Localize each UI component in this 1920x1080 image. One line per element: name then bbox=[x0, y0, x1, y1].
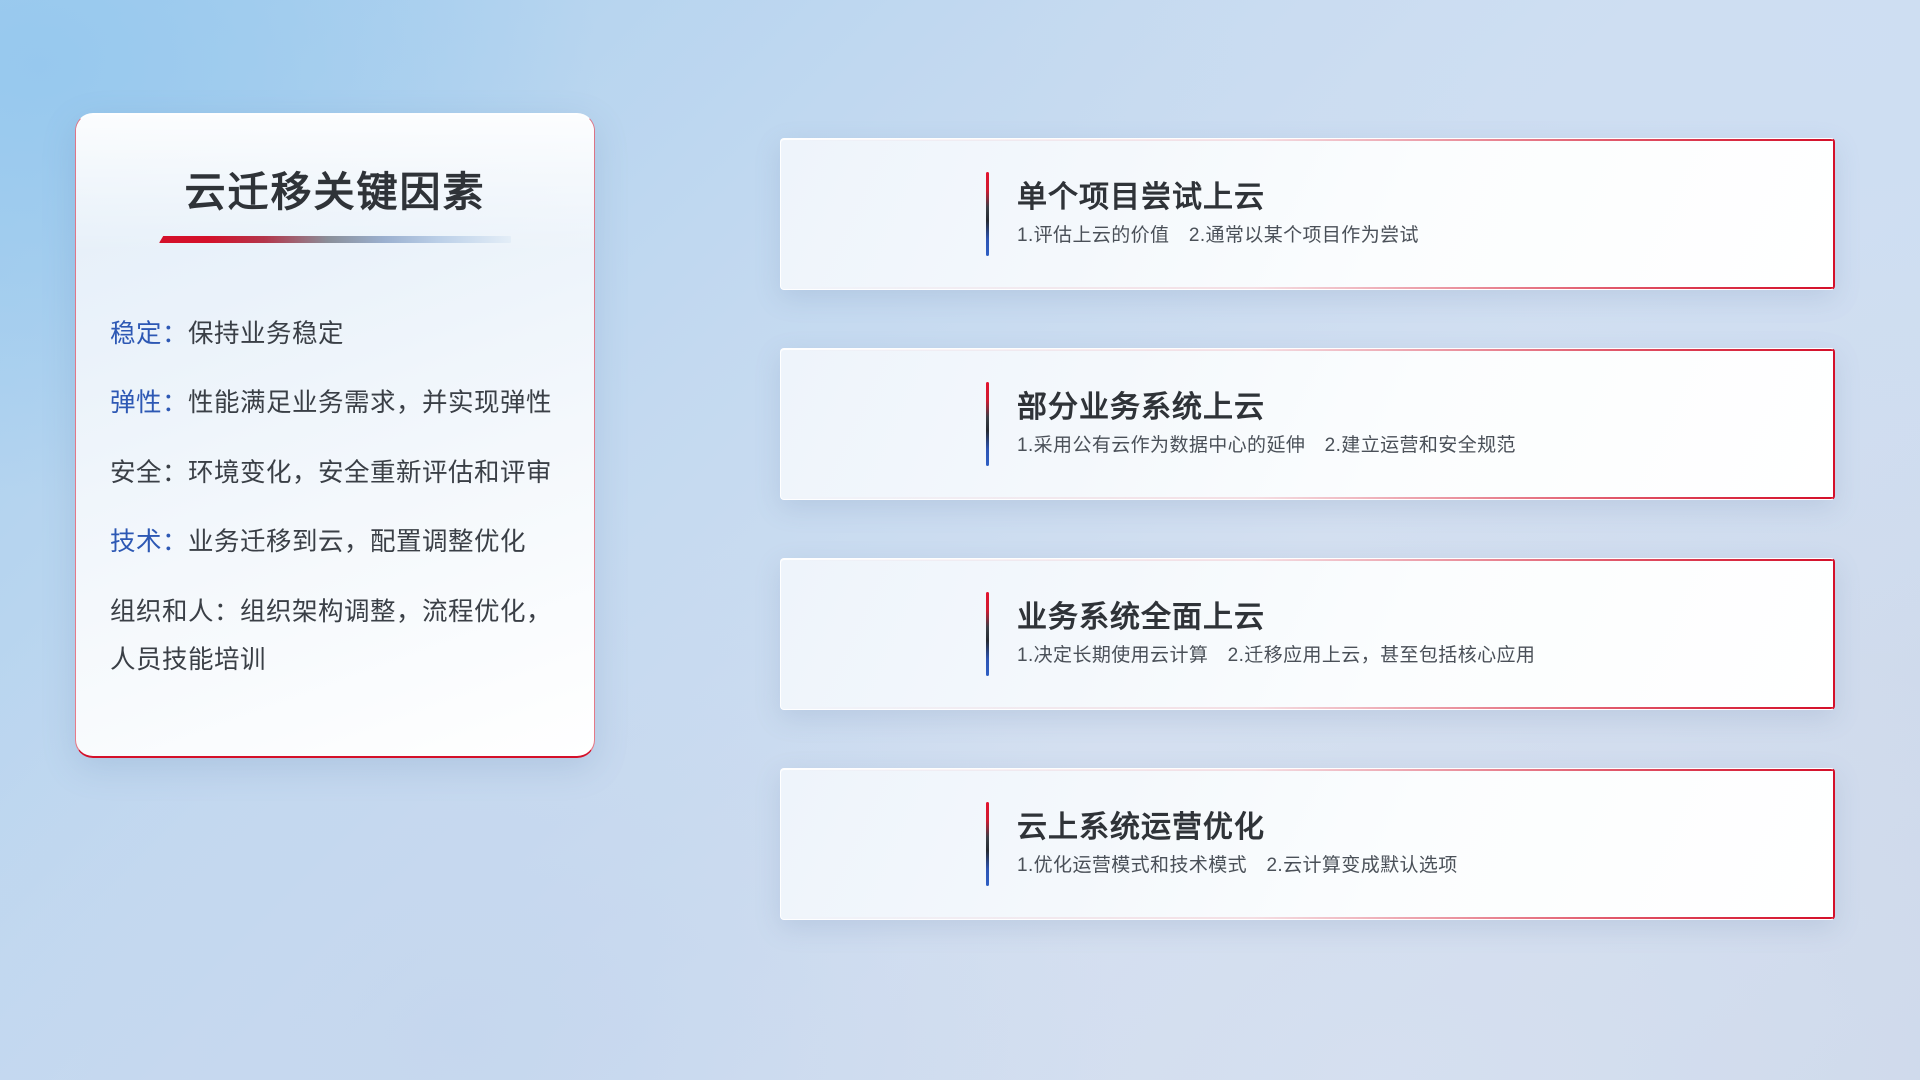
list-item: 安全：环境变化，安全重新评估和评审 bbox=[110, 456, 594, 490]
factor-key: 安全： bbox=[110, 459, 188, 487]
list-item: 弹性：性能满足业务需求，并实现弹性 bbox=[110, 386, 594, 420]
factor-value: 保持业务稳定 bbox=[188, 320, 344, 348]
stage-number-text: 01 bbox=[832, 165, 936, 264]
key-factors-panel: 云迁移关键因素 稳定：保持业务稳定 弹性：性能满足业务需求，并实现弹性 安全：环… bbox=[75, 113, 595, 758]
stage-number-badge: 01 bbox=[781, 139, 986, 289]
stage-body: 业务系统全面上云 1.决定长期使用云计算 2.迁移应用上云，甚至包括核心应用 bbox=[989, 600, 1833, 669]
stage-subtitle: 1.评估上云的价值 2.通常以某个项目作为尝试 bbox=[1017, 224, 1833, 249]
stage-number-badge: 04 bbox=[781, 769, 986, 919]
stage-subtitle: 1.优化运营模式和技术模式 2.云计算变成默认选项 bbox=[1017, 854, 1833, 879]
factor-value: 环境变化，安全重新评估和评审 bbox=[188, 459, 552, 487]
stage-body: 云上系统运营优化 1.优化运营模式和技术模式 2.云计算变成默认选项 bbox=[989, 810, 1833, 879]
stage-subtitle: 1.采用公有云作为数据中心的延伸 2.建立运营和安全规范 bbox=[1017, 434, 1833, 459]
stage-title: 单个项目尝试上云 bbox=[1017, 180, 1833, 216]
factor-key: 技术： bbox=[110, 528, 188, 556]
stage-title: 部分业务系统上云 bbox=[1017, 390, 1833, 426]
stage-number-badge: 02 bbox=[781, 349, 986, 499]
stage-card-01[interactable]: 01 单个项目尝试上云 1.评估上云的价值 2.通常以某个项目作为尝试 bbox=[780, 138, 1835, 290]
factor-key: 稳定： bbox=[110, 320, 188, 348]
stage-subtitle: 1.决定长期使用云计算 2.迁移应用上云，甚至包括核心应用 bbox=[1017, 644, 1833, 669]
stage-title: 业务系统全面上云 bbox=[1017, 600, 1833, 636]
list-item: 技术：业务迁移到云，配置调整优化 bbox=[110, 525, 594, 559]
stage-card-04[interactable]: 04 云上系统运营优化 1.优化运营模式和技术模式 2.云计算变成默认选项 bbox=[780, 768, 1835, 920]
stage-number-text: 03 bbox=[832, 585, 936, 684]
factor-value: 组织架构调整，流程优化， bbox=[240, 598, 552, 626]
factor-list: 稳定：保持业务稳定 弹性：性能满足业务需求，并实现弹性 安全：环境变化，安全重新… bbox=[110, 317, 594, 676]
title-underline-rule bbox=[159, 236, 511, 243]
stage-card-02[interactable]: 02 部分业务系统上云 1.采用公有云作为数据中心的延伸 2.建立运营和安全规范 bbox=[780, 348, 1835, 500]
factor-value: 业务迁移到云，配置调整优化 bbox=[188, 528, 526, 556]
stage-card-03[interactable]: 03 业务系统全面上云 1.决定长期使用云计算 2.迁移应用上云，甚至包括核心应… bbox=[780, 558, 1835, 710]
list-item: 组织和人：组织架构调整，流程优化， bbox=[110, 595, 594, 629]
stage-number-text: 04 bbox=[832, 795, 936, 894]
list-item: 稳定：保持业务稳定 bbox=[110, 317, 594, 351]
stage-title: 云上系统运营优化 bbox=[1017, 810, 1833, 846]
factor-value-continuation: 人员技能培训 bbox=[110, 639, 594, 676]
factor-key: 组织和人： bbox=[110, 598, 240, 626]
stage-number-text: 02 bbox=[832, 375, 936, 474]
page-title: 云迁移关键因素 bbox=[76, 158, 594, 218]
stage-body: 部分业务系统上云 1.采用公有云作为数据中心的延伸 2.建立运营和安全规范 bbox=[989, 390, 1833, 459]
stage-card-list: 01 单个项目尝试上云 1.评估上云的价值 2.通常以某个项目作为尝试 02 部… bbox=[780, 138, 1835, 920]
factor-key: 弹性： bbox=[110, 389, 188, 417]
stage-number-badge: 03 bbox=[781, 559, 986, 709]
stage-body: 单个项目尝试上云 1.评估上云的价值 2.通常以某个项目作为尝试 bbox=[989, 180, 1833, 249]
factor-value: 性能满足业务需求，并实现弹性 bbox=[188, 389, 552, 417]
